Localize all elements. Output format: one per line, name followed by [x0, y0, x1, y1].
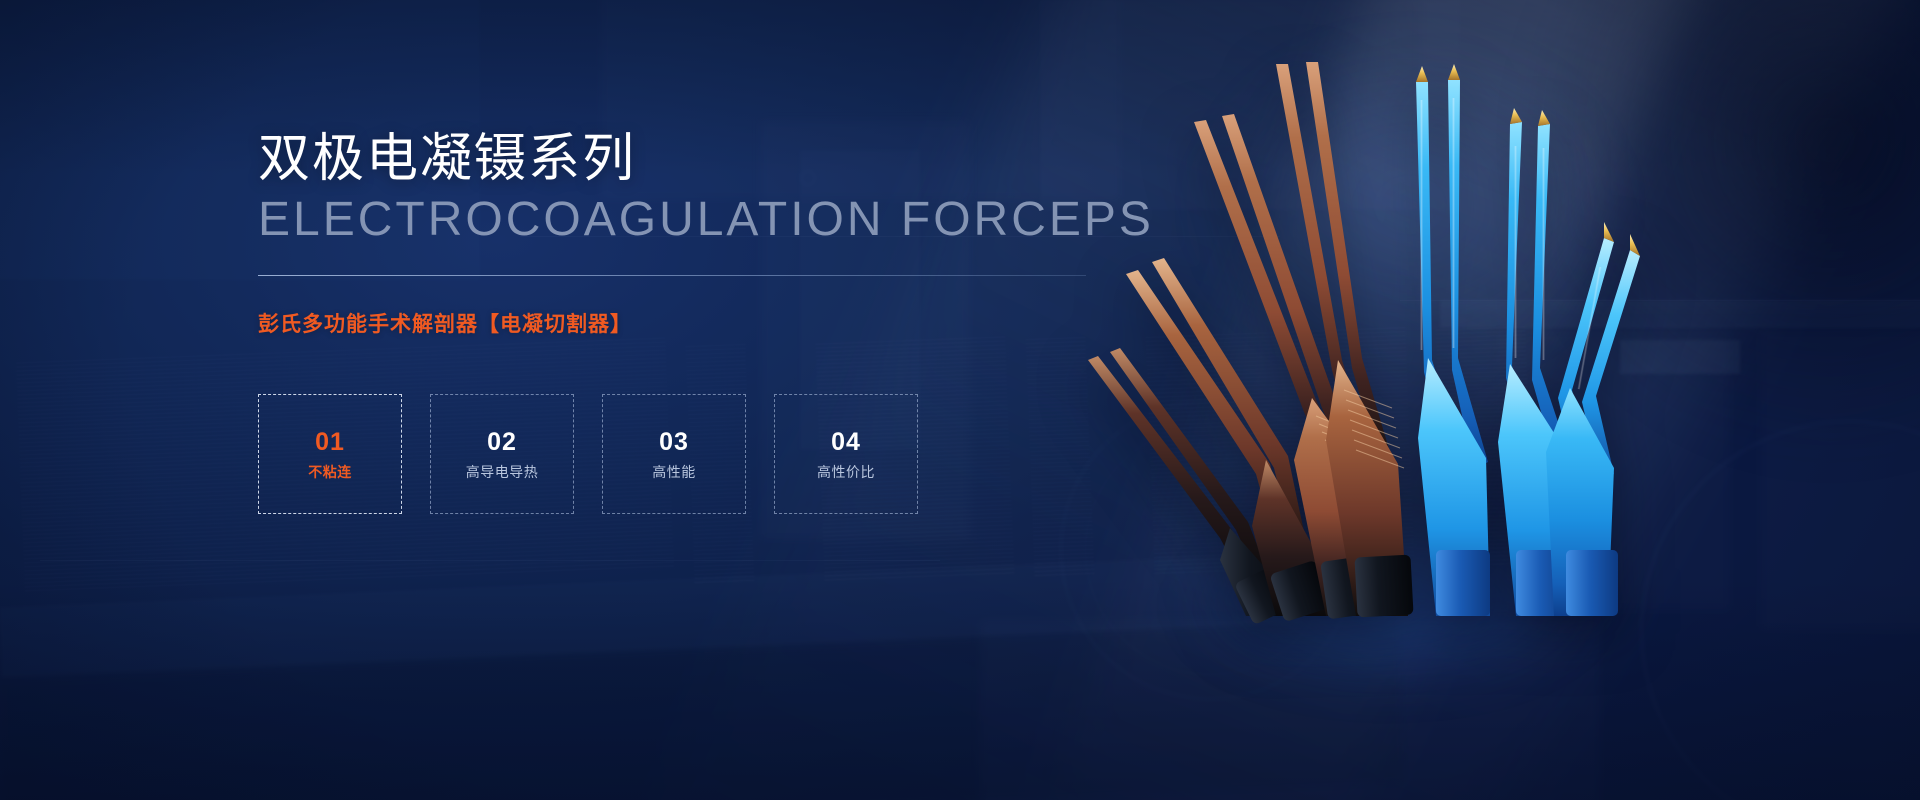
feature-list: 01 不粘连 02 高导电导热 03 高性能 04 高性价比: [258, 394, 1098, 514]
product-image-forceps-fan: [1080, 60, 1640, 620]
product-banner: 双极电凝镊系列 ELECTROCOAGULATION FORCEPS 彭氏多功能…: [0, 0, 1920, 800]
feature-number: 02: [487, 430, 517, 455]
feature-box-04[interactable]: 04 高性价比: [774, 394, 918, 514]
feature-number: 04: [831, 430, 861, 455]
product-subtitle: 彭氏多功能手术解剖器【电凝切割器】: [258, 308, 1098, 338]
page-title-cn: 双极电凝镊系列: [258, 130, 1098, 188]
feature-box-03[interactable]: 03 高性能: [602, 394, 746, 514]
feature-label: 高性能: [652, 465, 696, 479]
banner-copy: 双极电凝镊系列 ELECTROCOAGULATION FORCEPS 彭氏多功能…: [258, 130, 1098, 514]
feature-box-01[interactable]: 01 不粘连: [258, 394, 402, 514]
feature-number: 01: [315, 430, 345, 455]
feature-number: 03: [659, 430, 689, 455]
feature-label: 高导电导热: [466, 465, 539, 479]
title-divider: [258, 275, 1086, 276]
feature-box-02[interactable]: 02 高导电导热: [430, 394, 574, 514]
feature-label: 高性价比: [817, 465, 875, 479]
feature-label: 不粘连: [308, 465, 352, 479]
page-title-en: ELECTROCOAGULATION FORCEPS: [258, 194, 1098, 247]
